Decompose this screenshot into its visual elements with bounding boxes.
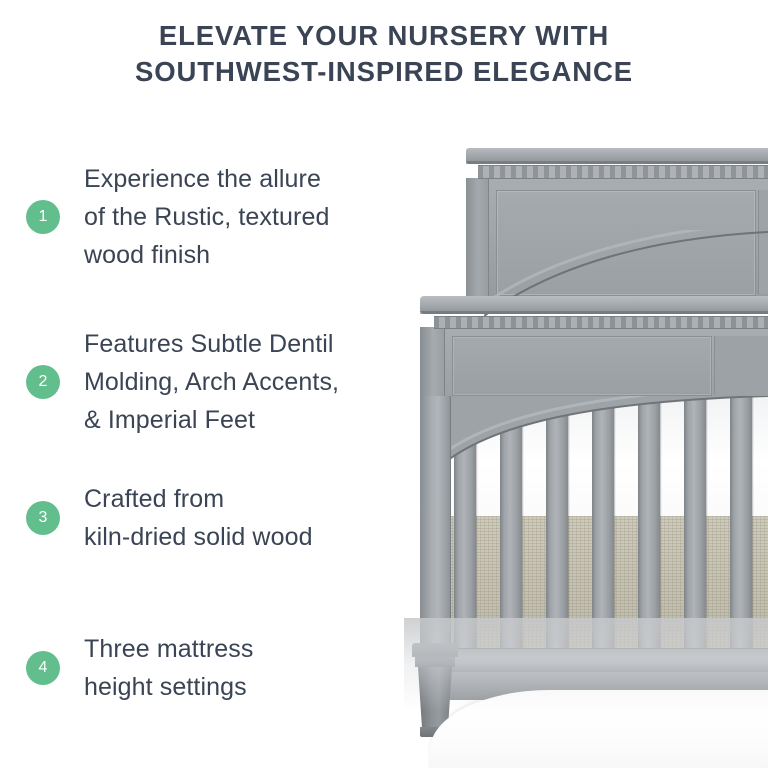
infographic-page: ELEVATE YOUR NURSERY WITH SOUTHWEST-INSP… [0, 0, 768, 768]
feature-1-line-2: of the Rustic, textured [84, 198, 420, 236]
feature-text-4: Three mattress height settings [84, 630, 420, 706]
list-item: 3 Crafted from kiln-dried solid wood [0, 480, 420, 556]
feature-2-line-1: Features Subtle Dentil [84, 325, 420, 363]
crib-front-inset-right [714, 336, 768, 394]
crib-mid-cap-rail [420, 296, 768, 314]
step-badge-3: 3 [26, 501, 60, 535]
page-title-line-2: SOUTHWEST-INSPIRED ELEGANCE [0, 54, 768, 90]
crib-front-inset [452, 336, 712, 396]
crib-slat [592, 396, 614, 656]
feature-text-1: Experience the allure of the Rustic, tex… [84, 160, 420, 274]
feature-4-line-1: Three mattress [84, 630, 420, 668]
crib-slat [638, 396, 660, 656]
list-item: 4 Three mattress height settings [0, 630, 420, 706]
crib-slat [500, 396, 522, 656]
crib-slat [454, 396, 476, 656]
dentil-molding-lower [434, 316, 768, 329]
crib-slat-region [420, 396, 768, 656]
step-badge-2: 2 [26, 365, 60, 399]
dentil-molding-upper [478, 165, 768, 179]
feature-4-line-2: height settings [84, 668, 420, 706]
feature-2-line-3: & Imperial Feet [84, 401, 420, 439]
feature-2-line-2: Molding, Arch Accents, [84, 363, 420, 401]
feature-3-line-2: kiln-dried solid wood [84, 518, 420, 556]
step-badge-4: 4 [26, 651, 60, 685]
page-title-line-1: ELEVATE YOUR NURSERY WITH [0, 18, 768, 54]
crib-slat [546, 396, 568, 656]
feature-3-line-1: Crafted from [84, 480, 420, 518]
list-item: 2 Features Subtle Dentil Molding, Arch A… [0, 325, 420, 439]
crib-headboard-left-stile [466, 178, 489, 306]
crib-slat [684, 396, 706, 656]
crib-front-left-stile [420, 327, 445, 401]
crib-slat [730, 396, 752, 656]
feature-text-3: Crafted from kiln-dried solid wood [84, 480, 420, 556]
page-title: ELEVATE YOUR NURSERY WITH SOUTHWEST-INSP… [0, 18, 768, 90]
image-bottom-fade [404, 618, 768, 738]
crib-top-cap-rail [466, 148, 768, 164]
crib-product-image [404, 138, 768, 738]
feature-1-line-3: wood finish [84, 236, 420, 274]
step-badge-1: 1 [26, 200, 60, 234]
feature-text-2: Features Subtle Dentil Molding, Arch Acc… [84, 325, 420, 439]
feature-1-line-1: Experience the allure [84, 160, 420, 198]
list-item: 1 Experience the allure of the Rustic, t… [0, 160, 420, 274]
